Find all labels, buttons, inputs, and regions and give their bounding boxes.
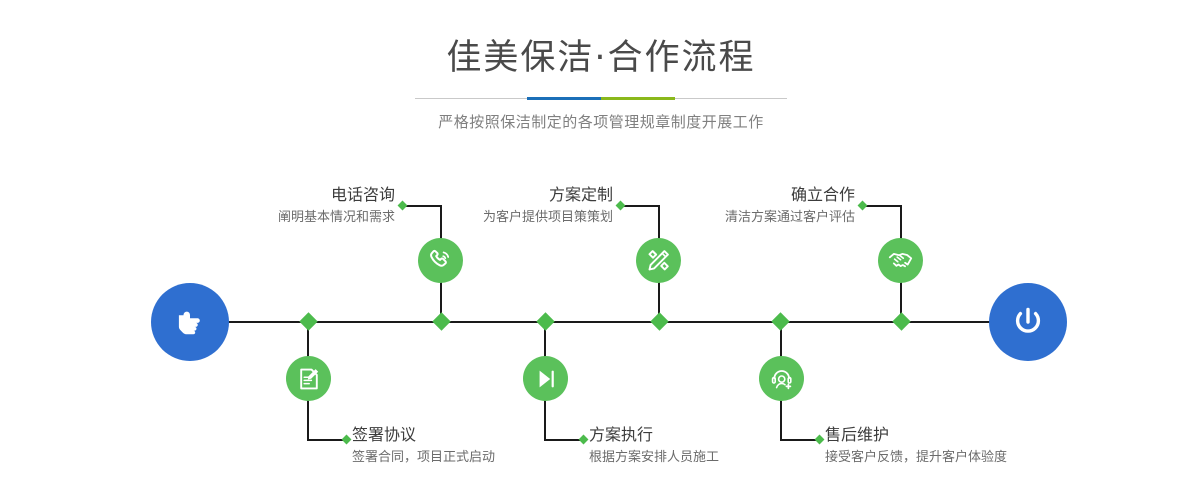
pointing-hand-icon xyxy=(170,302,210,342)
step-4-label: 方案执行 根据方案安排人员施工 xyxy=(589,425,819,468)
step-1-label: 电话咨询 阐明基本情况和需求 xyxy=(213,185,395,228)
axis-marker-6 xyxy=(892,312,910,330)
axis-marker-5 xyxy=(771,312,789,330)
step-3-icon-circle[interactable] xyxy=(636,238,681,283)
step-5-desc: 清洁方案通过客户评估 xyxy=(668,208,855,228)
phone-call-icon xyxy=(427,247,454,274)
handshake-icon xyxy=(887,247,914,274)
label-marker-1 xyxy=(398,201,408,211)
axis-marker-4 xyxy=(650,312,668,330)
step-4-title: 方案执行 xyxy=(589,425,819,445)
step-1-desc: 阐明基本情况和需求 xyxy=(213,208,395,228)
customer-service-add-icon xyxy=(769,366,795,392)
step-6-desc: 接受客户反馈，提升客户体验度 xyxy=(825,448,1085,468)
connector-stub-1 xyxy=(405,205,442,207)
connector-stub-4 xyxy=(544,439,582,441)
axis-marker-1 xyxy=(299,312,317,330)
axis-marker-3 xyxy=(536,312,554,330)
step-2-label: 签署协议 签署合同，项目正式启动 xyxy=(352,425,582,468)
step-3-label: 方案定制 为客户提供项目策策划 xyxy=(430,185,613,228)
step-5-icon-circle[interactable] xyxy=(878,238,923,283)
pencil-design-icon xyxy=(645,247,672,274)
axis-marker-2 xyxy=(432,312,450,330)
step-3-desc: 为客户提供项目策策划 xyxy=(430,208,613,228)
step-4-icon-circle[interactable] xyxy=(523,356,568,401)
step-6-icon-circle[interactable] xyxy=(759,356,804,401)
contract-edit-icon xyxy=(296,366,322,392)
step-6-title: 售后维护 xyxy=(825,425,1085,445)
step-6-label: 售后维护 接受客户反馈，提升客户体验度 xyxy=(825,425,1085,468)
label-marker-2 xyxy=(342,435,352,445)
play-execute-icon xyxy=(533,366,559,392)
step-5-title: 确立合作 xyxy=(668,185,855,205)
step-5-label: 确立合作 清洁方案通过客户评估 xyxy=(668,185,855,228)
timeline-end-node[interactable] xyxy=(989,283,1067,361)
label-marker-5 xyxy=(858,201,868,211)
connector-stub-3 xyxy=(623,205,660,207)
timeline-start-node[interactable] xyxy=(151,283,229,361)
step-2-icon-circle[interactable] xyxy=(286,356,331,401)
step-3-title: 方案定制 xyxy=(430,185,613,205)
step-1-icon-circle[interactable] xyxy=(418,238,463,283)
connector-stub-6 xyxy=(780,439,818,441)
connector-stub-5 xyxy=(865,205,902,207)
step-4-desc: 根据方案安排人员施工 xyxy=(589,448,819,468)
step-1-title: 电话咨询 xyxy=(213,185,395,205)
process-timeline: 电话咨询 阐明基本情况和需求 签署协议 签署合同，项目正式启动 xyxy=(0,0,1202,502)
power-icon xyxy=(1007,301,1049,343)
label-marker-3 xyxy=(616,201,626,211)
connector-stub-2 xyxy=(307,439,345,441)
step-2-title: 签署协议 xyxy=(352,425,582,445)
step-2-desc: 签署合同，项目正式启动 xyxy=(352,448,582,468)
flowchart-page: 佳美保洁·合作流程 严格按照保洁制定的各项管理规章制度开展工作 xyxy=(0,0,1202,502)
